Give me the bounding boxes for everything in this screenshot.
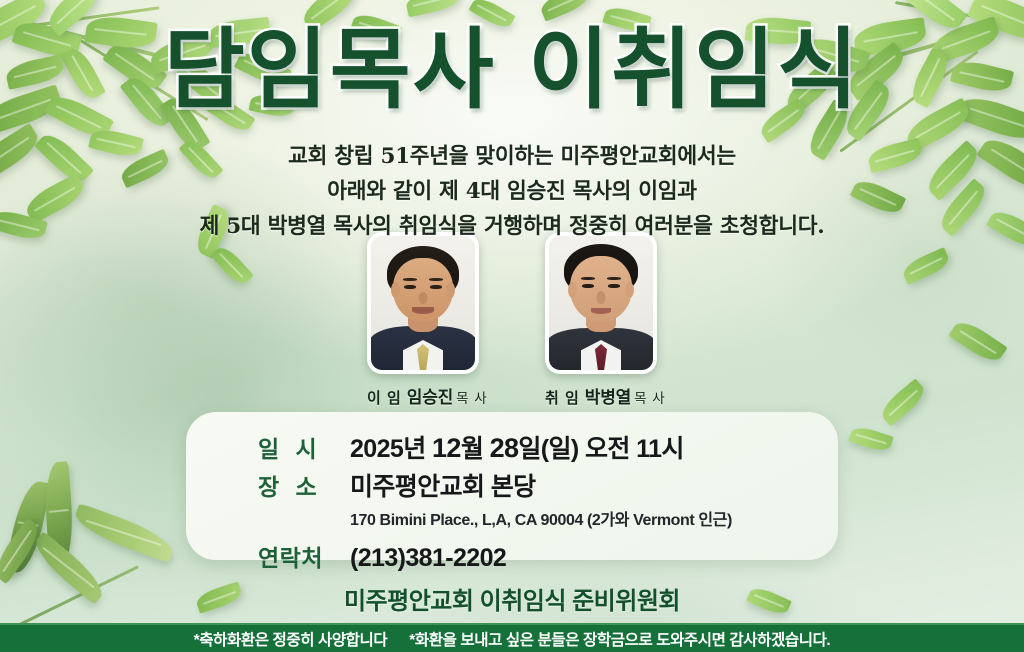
date-month-suffix: 월 xyxy=(461,435,490,463)
subtitle-line-3: 제 5대 박병열 목사의 취임식을 거행하며 정중히 여러분을 초청합니다. xyxy=(0,210,1024,245)
footer-note-1: *축하화환은 정중히 사양합니다 xyxy=(194,628,388,650)
person-incoming-pastor: 취 임박병열목 사 xyxy=(545,232,657,408)
portrait-frame xyxy=(545,232,657,374)
footer-note-2: *화환을 보내고 싶은 분들은 장학금으로 도와주시면 감사하겠습니다. xyxy=(409,628,830,650)
date-day: 28 xyxy=(490,433,519,463)
info-row-date: 일 시 2025년 12월 28일(일) 오전 11시 xyxy=(186,429,838,465)
info-value-date: 2025년 12월 28일(일) 오전 11시 xyxy=(350,429,684,465)
portrait-name-incoming: 박병열 xyxy=(585,388,631,407)
page-title: 담임목사 이취임식 xyxy=(164,22,860,117)
poster-title-container: 담임목사 이취임식 xyxy=(0,22,1024,117)
portrait-caption-outgoing: 이 임임승진목 사 xyxy=(367,383,479,408)
info-value-contact[interactable]: (213)381-2202 xyxy=(350,544,506,573)
date-month: 12 xyxy=(432,433,461,463)
info-row-place: 장 소 미주평안교회 본당 xyxy=(186,467,838,503)
info-value-address: 170 Bimini Place., L,A, CA 90004 (2가와 Ve… xyxy=(186,506,838,530)
portrait-frame xyxy=(367,232,479,374)
info-label-place: 장 소 xyxy=(258,468,350,502)
subtitle-line-2: 아래와 같이 제 4대 임승진 목사의 이임과 xyxy=(0,175,1024,210)
portrait-photo-incoming xyxy=(549,236,653,370)
portrait-role-incoming: 취 임 xyxy=(545,390,580,407)
portrait-caption-incoming: 취 임박병열목 사 xyxy=(545,383,657,408)
footer-notice-bar: *축하화환은 정중히 사양합니다 *화환을 보내고 싶은 분들은 장학금으로 도… xyxy=(0,623,1024,652)
portrait-row: 이 임임승진목 사 xyxy=(0,232,1024,408)
person-outgoing-pastor: 이 임임승진목 사 xyxy=(367,232,479,408)
portrait-role-outgoing: 이 임 xyxy=(367,390,402,407)
info-label-date: 일 시 xyxy=(258,430,350,464)
portrait-suffix-outgoing: 목 사 xyxy=(456,391,488,406)
poster-subtitle: 교회 창립 51주년을 맞이하는 미주평안교회에서는 아래와 같이 제 4대 임… xyxy=(0,140,1024,244)
date-prefix: 2025년 xyxy=(350,435,432,463)
portrait-photo-outgoing xyxy=(371,236,475,370)
date-suffix: 일(일) 오전 11시 xyxy=(518,435,683,463)
info-value-place: 미주평안교회 본당 xyxy=(350,467,536,503)
event-info-card: 일 시 2025년 12월 28일(일) 오전 11시 장 소 미주평안교회 본… xyxy=(186,412,838,560)
subtitle-line-1: 교회 창립 51주년을 맞이하는 미주평안교회에서는 xyxy=(0,140,1024,175)
portrait-name-outgoing: 임승진 xyxy=(407,388,453,407)
portrait-suffix-incoming: 목 사 xyxy=(634,391,666,406)
info-label-contact: 연락처 xyxy=(258,539,350,573)
committee-line: 미주평안교회 이취임식 준비위원회 xyxy=(0,581,1024,616)
poster-canvas: 담임목사 이취임식 교회 창립 51주년을 맞이하는 미주평안교회에서는 아래와… xyxy=(0,0,1024,652)
info-row-contact: 연락처 (213)381-2202 xyxy=(186,539,838,573)
